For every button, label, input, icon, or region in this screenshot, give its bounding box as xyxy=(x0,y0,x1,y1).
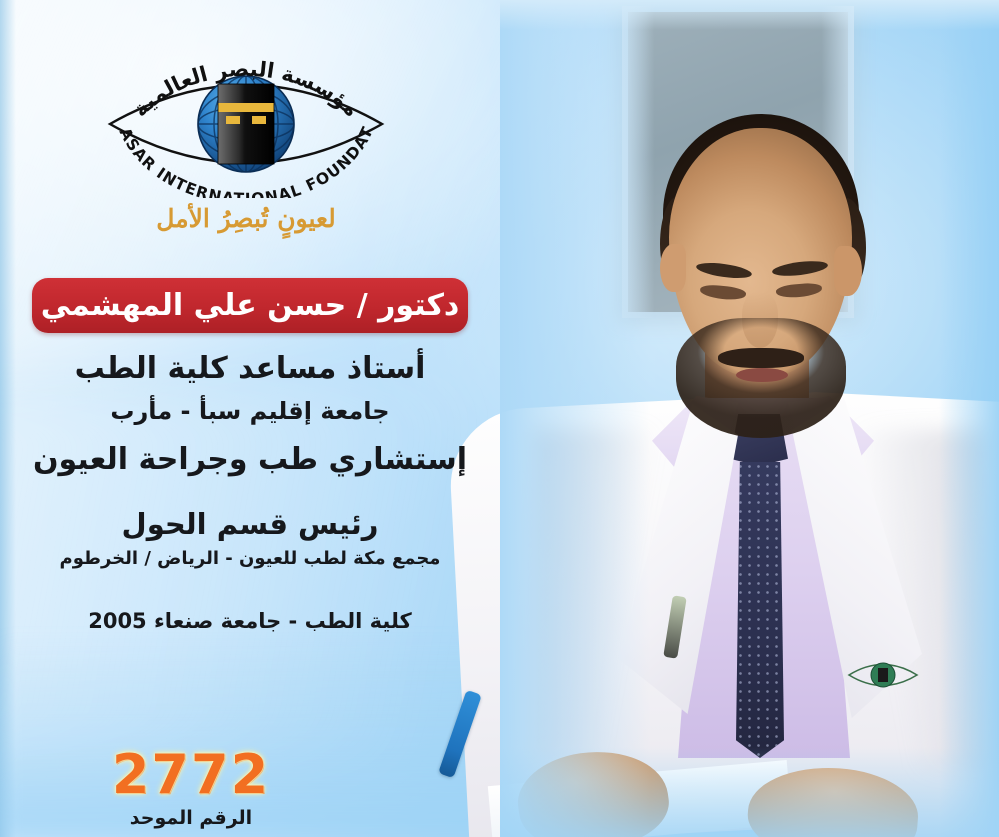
moustache xyxy=(718,348,804,368)
photo-fade-right xyxy=(939,0,999,837)
ear-right xyxy=(834,246,862,296)
doctor-title-2: جامعة إقليم سبأ - مأرب xyxy=(0,397,500,425)
doctor-name: دكتور / حسن علي المهشمي xyxy=(41,288,460,323)
mouth xyxy=(736,368,788,382)
foundation-logo: مؤسسة البصر العالمية ALBASAR INTERNATION… xyxy=(96,48,396,248)
doctor-title-5: مجمع مكة لطب للعيون - الرياض / الخرطوم xyxy=(0,548,500,569)
coat-eye-logo-badge xyxy=(846,652,920,698)
hotline-number: 2772 xyxy=(76,748,306,802)
doctor-title-3: إستشاري طب وجراحة العيون xyxy=(0,442,500,477)
doctor-title-4: رئيس قسم الحول xyxy=(0,507,500,541)
ear-left xyxy=(660,244,686,292)
photo-fade-bottom xyxy=(500,747,999,837)
doctor-title-1: أستاذ مساعد كلية الطب xyxy=(0,351,500,386)
eye-globe-kaaba-icon: مؤسسة البصر العالمية ALBASAR INTERNATION… xyxy=(96,48,396,198)
hotline-block: 2772 الرقم الموحد xyxy=(76,748,306,829)
logo-slogan: لعيونٍ تُبصِرُ الأمل xyxy=(96,204,396,233)
profile-card: مؤسسة البصر العالمية ALBASAR INTERNATION… xyxy=(0,0,999,837)
doctor-name-banner: دكتور / حسن علي المهشمي xyxy=(32,278,468,333)
doctor-title-6: كلية الطب - جامعة صنعاء 2005 xyxy=(0,609,500,633)
doctor-photo xyxy=(500,0,999,837)
photo-fade-top xyxy=(500,0,999,30)
photo-fade-left xyxy=(500,0,650,837)
doctor-info: دكتور / حسن علي المهشمي أستاذ مساعد كلية… xyxy=(0,278,500,633)
hotline-label: الرقم الموحد xyxy=(76,807,306,829)
necktie xyxy=(736,462,784,758)
